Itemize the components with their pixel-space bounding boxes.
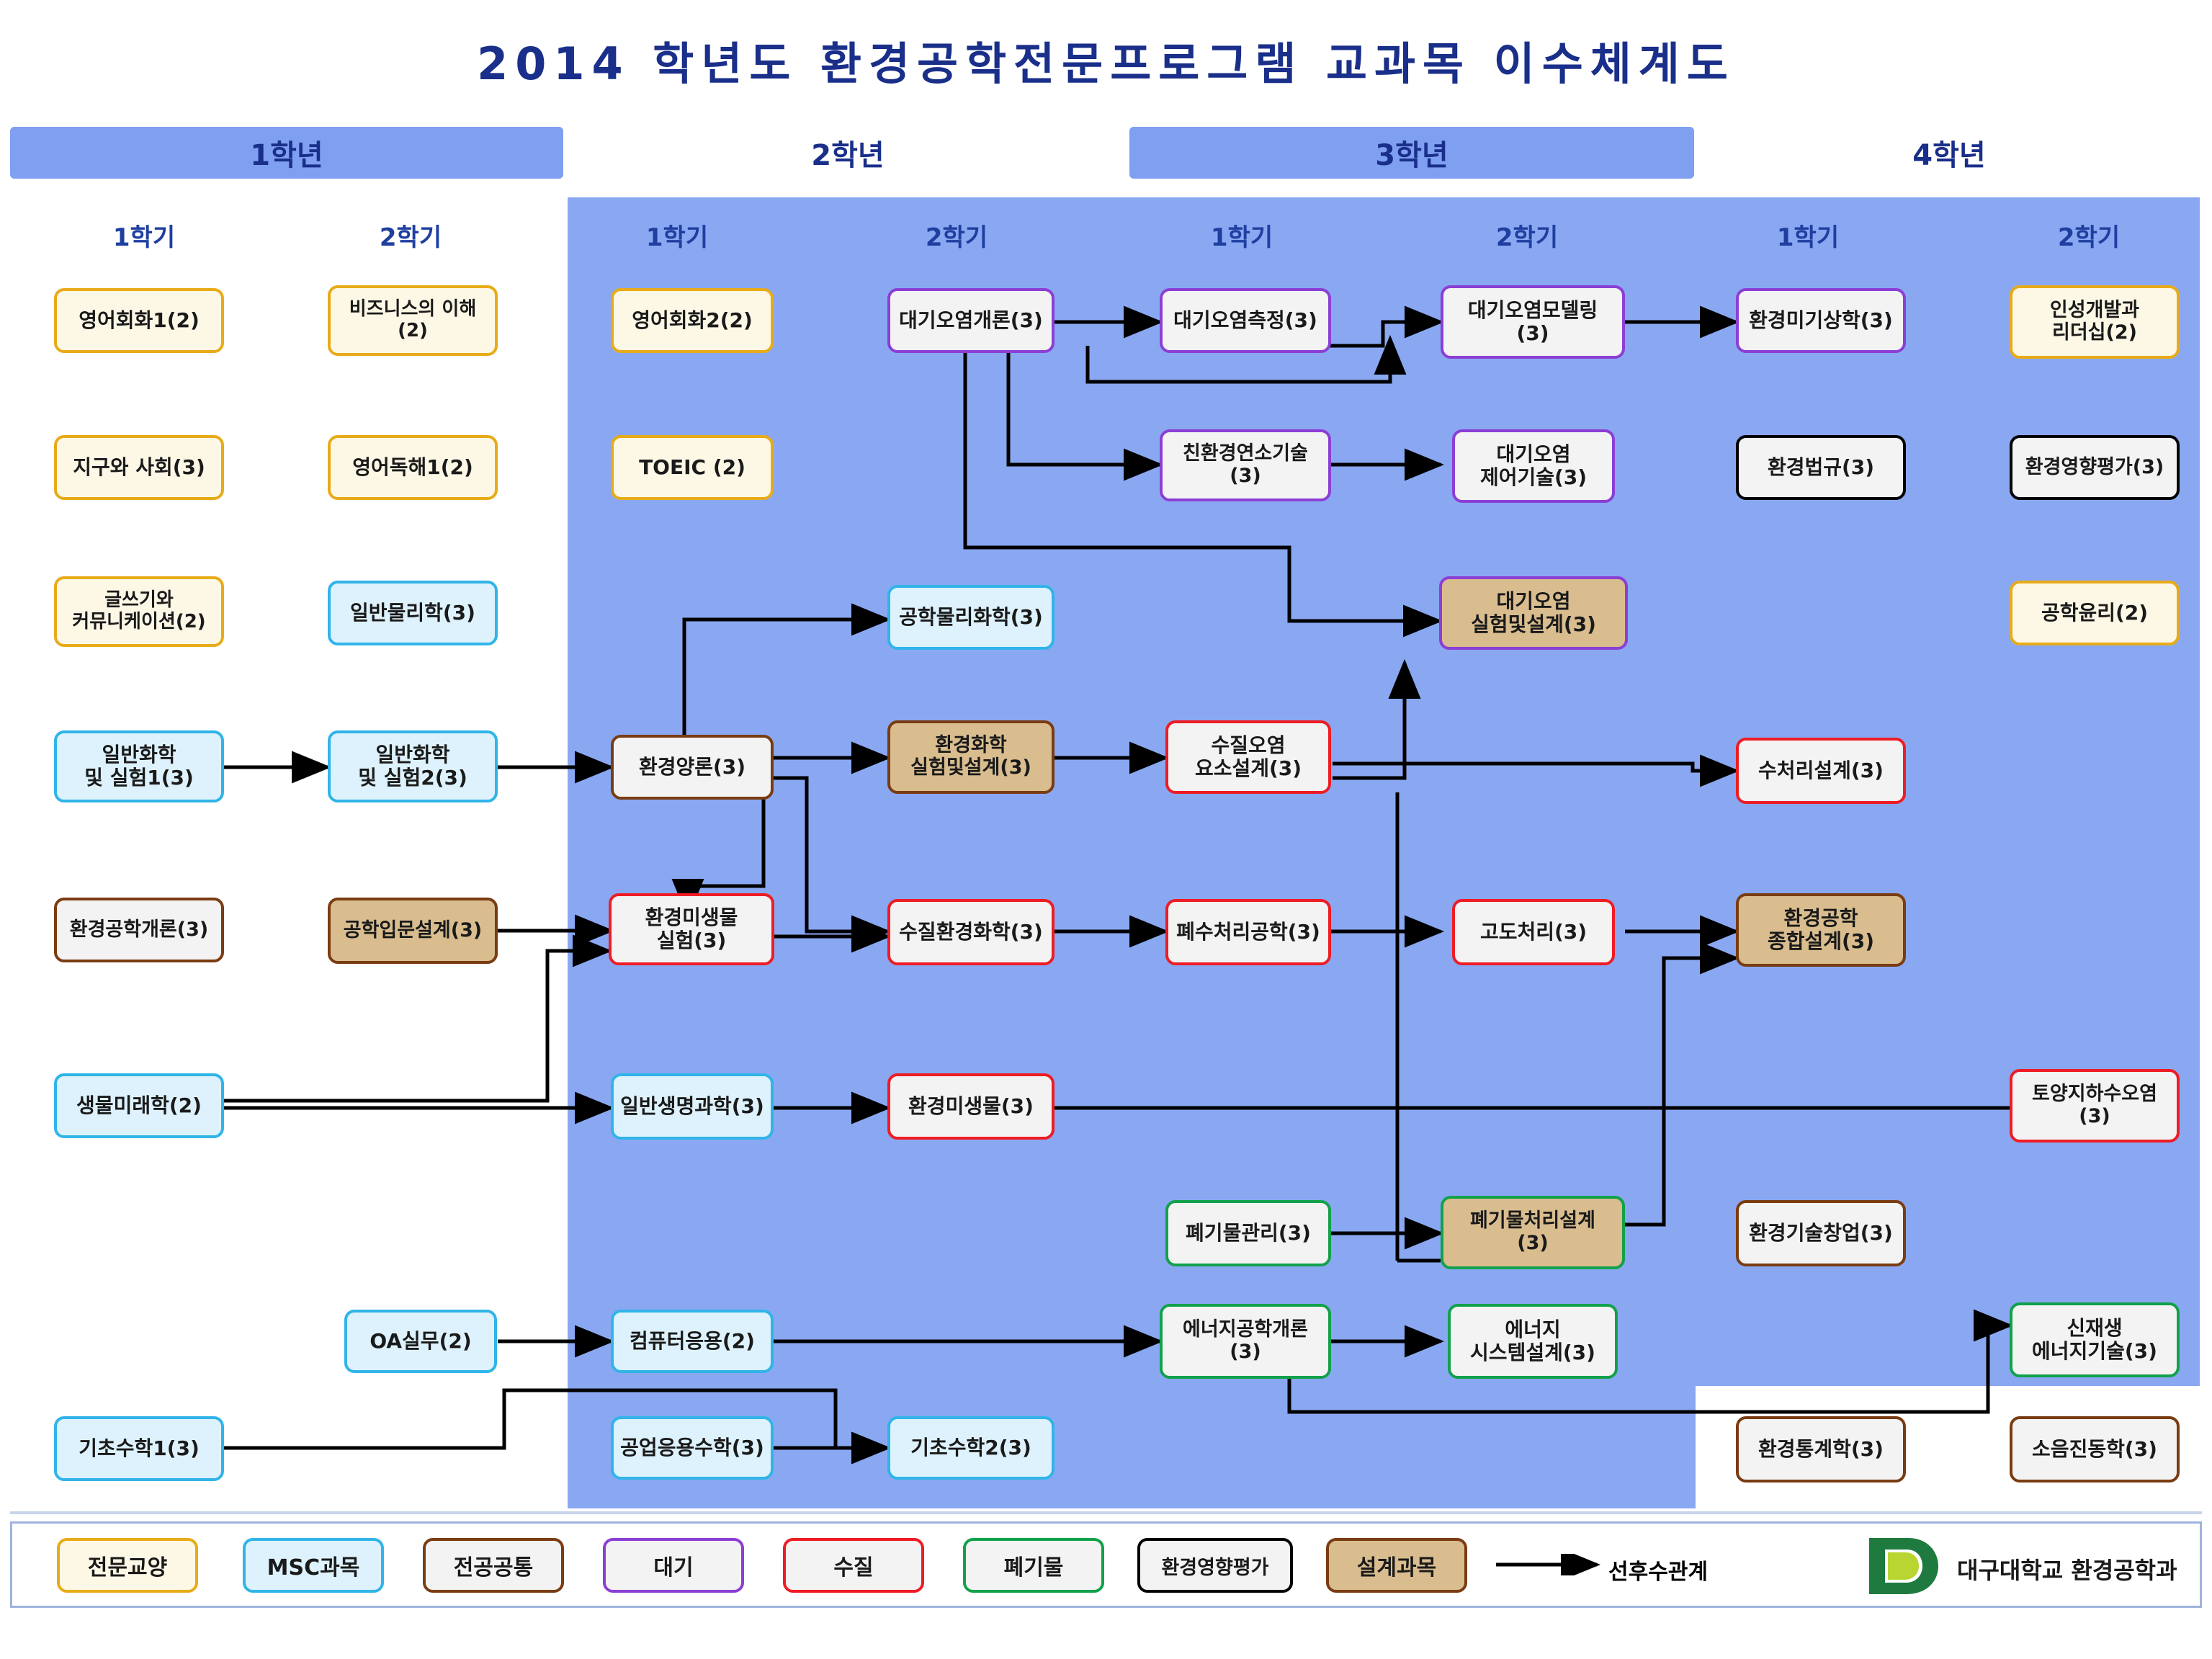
course-box[interactable]: TOEIC (2) <box>611 435 774 500</box>
course-label: 대기오염 제어기술(3) <box>1480 443 1587 489</box>
course-box[interactable]: 일반생명과학(3) <box>611 1073 774 1140</box>
course-box[interactable]: 공학물리화학(3) <box>887 585 1054 650</box>
course-label: 에너지 시스템설계(3) <box>1470 1318 1595 1364</box>
course-label: 수처리설계(3) <box>1758 759 1884 782</box>
course-box[interactable]: 폐기물처리설계 (3) <box>1441 1196 1625 1269</box>
course-box[interactable]: 토양지하수오염 (3) <box>2010 1069 2180 1142</box>
course-box[interactable]: 환경미기상학(3) <box>1736 288 1906 353</box>
course-label: 환경법규(3) <box>1768 456 1874 479</box>
course-box[interactable]: OA실무(2) <box>344 1310 497 1373</box>
course-box[interactable]: 공학입문설계(3) <box>328 898 498 964</box>
course-box[interactable]: 수질오염 요소설계(3) <box>1165 720 1331 794</box>
course-label: 토양지하수오염 (3) <box>2032 1083 2157 1128</box>
course-box[interactable]: 환경화학 실험및설계(3) <box>887 720 1054 794</box>
course-box[interactable]: 환경공학 종합설계(3) <box>1736 893 1906 967</box>
course-label: 환경기술창업(3) <box>1749 1222 1893 1245</box>
course-label: 환경영향평가(3) <box>2025 457 2164 479</box>
course-label: 고도처리(3) <box>1480 921 1587 944</box>
course-box[interactable]: 환경공학개론(3) <box>54 898 224 962</box>
course-box[interactable]: 기초수학1(3) <box>54 1416 224 1481</box>
course-label: 기초수학1(3) <box>79 1437 200 1460</box>
course-label: 환경공학 종합설계(3) <box>1768 907 1874 953</box>
course-label: 신재생 에너지기술(3) <box>2032 1317 2157 1363</box>
course-label: 환경미생물(3) <box>908 1095 1034 1118</box>
course-label: 수질오염 요소설계(3) <box>1195 734 1302 780</box>
course-box[interactable]: 지구와 사회(3) <box>54 435 224 500</box>
course-box[interactable]: 환경기술창업(3) <box>1736 1200 1906 1266</box>
course-box[interactable]: 기초수학2(3) <box>887 1416 1054 1480</box>
course-box[interactable]: 환경통계학(3) <box>1736 1416 1906 1483</box>
course-label: OA실무(2) <box>370 1330 471 1353</box>
course-label: 대기오염모델링 (3) <box>1468 299 1598 345</box>
course-box[interactable]: 소음진동학(3) <box>2010 1416 2180 1483</box>
course-box[interactable]: 환경미생물 실험(3) <box>609 893 774 965</box>
course-label: 폐기물처리설계 (3) <box>1470 1210 1595 1255</box>
course-box[interactable]: 환경양론(3) <box>611 735 774 800</box>
course-label: 대기오염 실험및설계(3) <box>1471 590 1596 636</box>
course-label: 인성개발과 리더십(2) <box>2050 300 2139 344</box>
course-label: 환경미생물 실험(3) <box>645 906 738 952</box>
course-label: 환경양론(3) <box>639 756 745 779</box>
course-box[interactable]: 공학윤리(2) <box>2010 581 2180 645</box>
course-label: 대기오염측정(3) <box>1173 309 1317 332</box>
course-label: 공학물리화학(3) <box>899 606 1043 629</box>
course-box[interactable]: 대기오염 제어기술(3) <box>1452 429 1615 503</box>
course-label: 환경화학 실험및설계(3) <box>910 735 1031 779</box>
course-box[interactable]: 일반화학 및 실험2(3) <box>328 730 498 802</box>
course-box[interactable]: 에너지 시스템설계(3) <box>1448 1304 1618 1379</box>
course-label: 환경미기상학(3) <box>1749 309 1893 332</box>
course-label: 일반물리학(3) <box>350 602 475 625</box>
course-box[interactable]: 수처리설계(3) <box>1736 738 1906 804</box>
course-label: 공학입문설계(3) <box>344 920 483 942</box>
course-label: 공학윤리(2) <box>2041 602 2148 625</box>
course-label: 생물미래학(2) <box>76 1094 202 1117</box>
course-label: 소음진동학(3) <box>2032 1438 2157 1461</box>
course-label: 컴퓨터응용(2) <box>630 1330 755 1353</box>
prerequisite-arrows <box>0 0 2212 1659</box>
course-box[interactable]: 영어독해1(2) <box>328 435 498 500</box>
course-label: 폐수처리공학(3) <box>1176 921 1320 944</box>
course-label: 대기오염개론(3) <box>899 309 1043 332</box>
course-label: 지구와 사회(3) <box>73 456 205 479</box>
course-box[interactable]: 대기오염 실험및설계(3) <box>1439 576 1628 650</box>
course-label: 친환경연소기술 (3) <box>1183 443 1308 488</box>
course-label: 에너지공학개론 (3) <box>1183 1319 1308 1364</box>
course-box[interactable]: 생물미래학(2) <box>54 1073 224 1138</box>
course-box[interactable]: 일반물리학(3) <box>328 581 498 645</box>
course-box[interactable]: 수질환경화학(3) <box>887 899 1054 965</box>
course-label: 일반생명과학(3) <box>620 1095 764 1118</box>
course-box[interactable]: 일반화학 및 실험1(3) <box>54 730 224 802</box>
course-box[interactable]: 컴퓨터응용(2) <box>611 1310 774 1373</box>
course-label: 공업응용수학(3) <box>620 1436 764 1459</box>
course-label: 수질환경화학(3) <box>899 921 1043 944</box>
course-box[interactable]: 고도처리(3) <box>1452 899 1615 965</box>
course-label: 일반화학 및 실험1(3) <box>84 743 194 790</box>
course-label: 영어회화2(2) <box>632 309 753 332</box>
course-box[interactable]: 비즈니스의 이해 (2) <box>328 285 498 356</box>
course-box[interactable]: 폐기물관리(3) <box>1165 1200 1331 1266</box>
course-label: TOEIC (2) <box>639 456 745 479</box>
course-box[interactable]: 에너지공학개론 (3) <box>1160 1304 1331 1379</box>
course-box[interactable]: 환경영향평가(3) <box>2010 435 2180 500</box>
course-label: 영어회화1(2) <box>79 309 200 332</box>
course-box[interactable]: 폐수처리공학(3) <box>1165 899 1331 965</box>
course-box[interactable]: 신재생 에너지기술(3) <box>2010 1302 2180 1377</box>
course-label: 환경통계학(3) <box>1758 1438 1884 1461</box>
course-box[interactable]: 대기오염모델링 (3) <box>1441 285 1625 359</box>
course-box[interactable]: 친환경연소기술 (3) <box>1160 429 1331 501</box>
course-box[interactable]: 환경미생물(3) <box>887 1073 1054 1140</box>
course-box[interactable]: 인성개발과 리더십(2) <box>2010 285 2180 359</box>
course-box[interactable]: 환경법규(3) <box>1736 435 1906 500</box>
course-label: 기초수학2(3) <box>910 1436 1031 1459</box>
course-label: 일반화학 및 실험2(3) <box>358 743 467 790</box>
course-box[interactable]: 대기오염개론(3) <box>887 288 1054 353</box>
course-box[interactable]: 대기오염측정(3) <box>1160 288 1331 353</box>
course-label: 환경공학개론(3) <box>70 919 209 942</box>
course-box[interactable]: 공업응용수학(3) <box>611 1416 774 1480</box>
course-label: 비즈니스의 이해 (2) <box>349 299 477 341</box>
course-box[interactable]: 영어회화1(2) <box>54 288 224 353</box>
course-box[interactable]: 영어회화2(2) <box>611 288 774 353</box>
course-label: 영어독해1(2) <box>352 456 473 479</box>
course-label: 폐기물관리(3) <box>1186 1222 1311 1245</box>
course-label: 글쓰기와 커뮤니케이션(2) <box>72 590 205 632</box>
course-box[interactable]: 글쓰기와 커뮤니케이션(2) <box>54 576 224 647</box>
